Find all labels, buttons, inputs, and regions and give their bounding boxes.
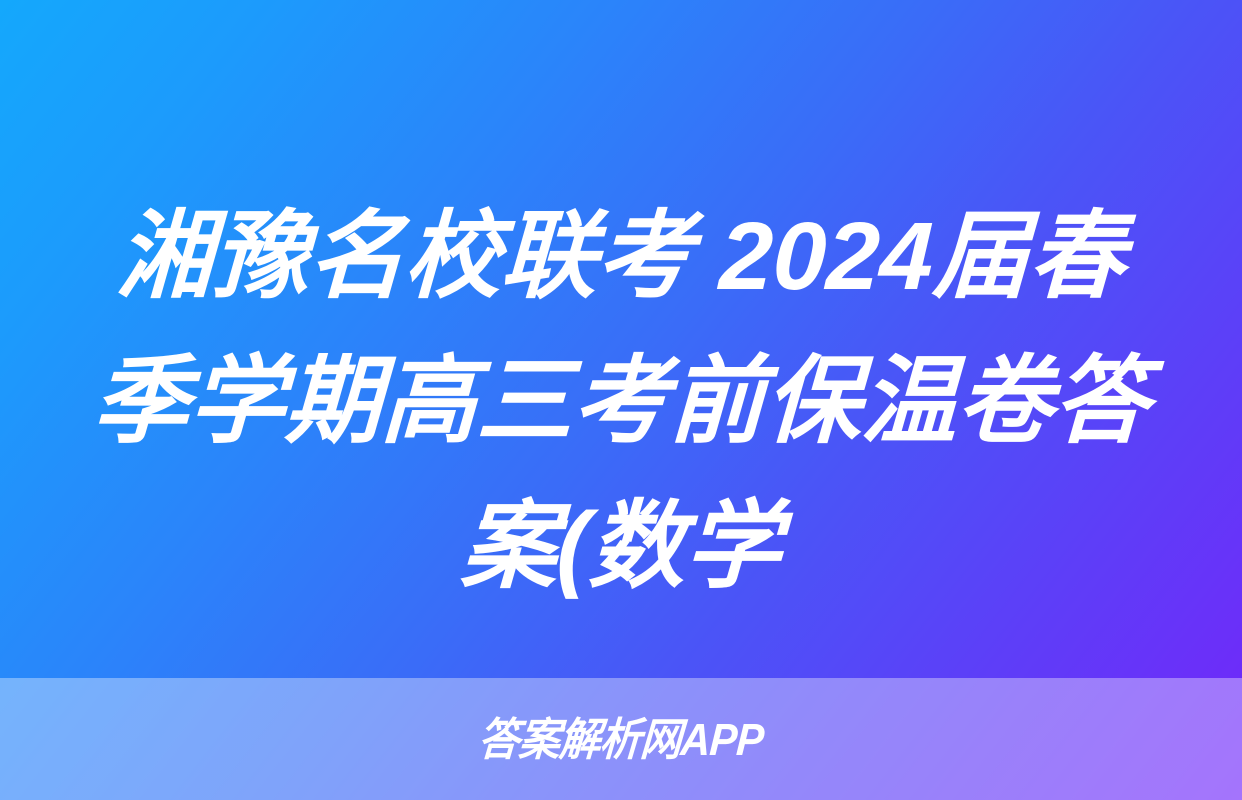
watermark-band: 答案解析网APP xyxy=(0,678,1242,800)
title-line-3: 案(数学 xyxy=(53,474,1188,619)
content-thumbnail-card: 湘豫名校联考 2024届春 季学期高三考前保温卷答 案(数学 答案解析网APP xyxy=(0,0,1242,800)
watermark-brand-label: 答案解析网APP xyxy=(477,717,765,762)
title-line-1: 湘豫名校联考 2024届春 xyxy=(53,184,1188,329)
page-title: 湘豫名校联考 2024届春 季学期高三考前保温卷答 案(数学 xyxy=(0,184,1242,619)
title-line-2: 季学期高三考前保温卷答 xyxy=(53,329,1188,474)
